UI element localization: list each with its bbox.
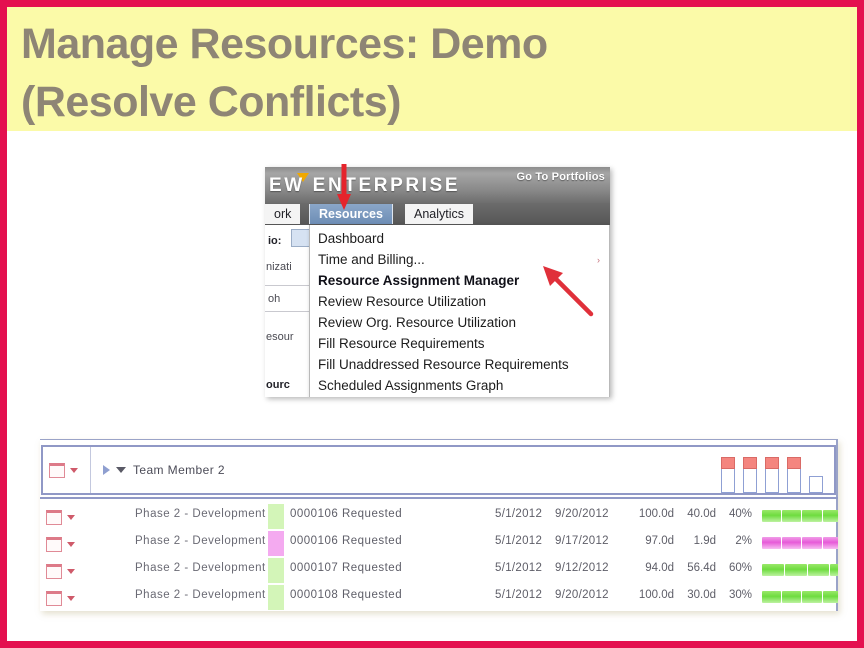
document-icon (46, 591, 62, 606)
mini-bar-overallocation-cap (743, 457, 757, 469)
utilization-mini-bar-chart (721, 451, 823, 493)
row-color-swatch (268, 585, 284, 610)
menu-item-label: Fill Resource Requirements (318, 336, 485, 351)
cell-percent: 60% (720, 562, 752, 574)
background-text-fragment: esour (266, 331, 294, 343)
group-bottom-rule (40, 497, 838, 499)
allocation-bar-segment (823, 537, 838, 549)
chevron-down-icon[interactable] (70, 468, 78, 473)
cell-task-phase: Phase 2 - Development (135, 508, 266, 520)
menu-item-dashboard[interactable]: Dashboard (310, 228, 609, 249)
chevron-down-icon[interactable] (67, 515, 75, 520)
allocation-progress-bar (762, 564, 838, 576)
allocation-progress-bar (762, 591, 838, 603)
allocation-bar-segment (802, 510, 821, 522)
row-icon-cell (46, 537, 84, 552)
allocation-bar-segment (762, 537, 781, 549)
cell-request-status: 0000108 Requested (290, 589, 402, 601)
row-color-swatch (268, 558, 284, 583)
page-title: Manage Resources: Demo (Resolve Conflict… (21, 15, 857, 131)
group-member-name: Team Member 2 (133, 463, 225, 477)
document-icon (46, 564, 62, 579)
app-logo-text: EW ENTERPRISE (269, 175, 460, 197)
submenu-chevron-right-icon: › (597, 256, 600, 264)
chevron-down-icon[interactable] (67, 569, 75, 574)
go-to-portfolios-link[interactable]: Go To Portfolios (516, 171, 605, 183)
background-text-fragment: ourc (266, 379, 290, 391)
column-divider (90, 447, 91, 493)
group-label-cell (43, 447, 87, 493)
slide-canvas: Manage Resources: Demo (Resolve Conflict… (0, 0, 864, 648)
title-banner: Manage Resources: Demo (Resolve Conflict… (7, 7, 857, 131)
table-row[interactable]: Phase 2 - Development0000108 Requested5/… (40, 584, 838, 611)
background-text-fragment: nizati (266, 261, 292, 273)
row-icon-cell (46, 510, 84, 525)
cell-percent: 30% (720, 589, 752, 601)
tab-work[interactable]: ork (265, 204, 300, 224)
background-text-fragment: io: (268, 235, 281, 247)
expand-triangle-icon[interactable] (103, 465, 110, 475)
document-icon (49, 463, 65, 478)
menu-item-fill-unaddressed-resource-requirements[interactable]: Fill Unaddressed Resource Requirements (310, 354, 609, 375)
table-row[interactable]: Phase 2 - Development0000106 Requested5/… (40, 503, 838, 530)
app-header-bar: EW ENTERPRISE Go To Portfolios (265, 167, 610, 203)
chevron-down-icon[interactable] (67, 596, 75, 601)
cell-task-phase: Phase 2 - Development (135, 535, 266, 547)
allocation-bar-segment (762, 510, 781, 522)
menu-item-label: Time and Billing... (318, 252, 425, 267)
cell-start-date: 5/1/2012 (495, 535, 542, 547)
background-rule-1 (265, 285, 309, 286)
allocation-bar-segment (802, 537, 821, 549)
allocation-bar-segment (782, 537, 801, 549)
tab-strip: ork Resources Analytics (265, 203, 610, 225)
mini-bar (765, 457, 779, 493)
cell-total-days: 100.0d (630, 508, 674, 520)
annotation-arrow-down-icon (337, 164, 351, 210)
cell-end-date: 9/20/2012 (555, 589, 609, 601)
cell-request-status: 0000106 Requested (290, 508, 402, 520)
cell-start-date: 5/1/2012 (495, 508, 542, 520)
mini-bar (809, 476, 823, 493)
mini-bar-overallocation-cap (721, 457, 735, 469)
allocation-bar-segment (782, 591, 801, 603)
document-icon (46, 537, 62, 552)
menu-item-label: Review Resource Utilization (318, 294, 486, 309)
row-icon-cell (46, 564, 84, 579)
table-row[interactable]: Phase 2 - Development0000107 Requested5/… (40, 557, 838, 584)
allocation-bar-segment (785, 564, 807, 576)
background-text-fragment: oh (268, 293, 280, 305)
mini-bar (743, 457, 757, 493)
mini-bar (721, 457, 735, 493)
cell-start-date: 5/1/2012 (495, 589, 542, 601)
cell-task-phase: Phase 2 - Development (135, 589, 266, 601)
allocation-bar-segment (762, 591, 781, 603)
menu-item-label: Resource Assignment Manager (318, 273, 519, 288)
annotation-arrow-diagonal-icon (539, 262, 597, 320)
menu-item-fill-resource-requirements[interactable]: Fill Resource Requirements (310, 333, 609, 354)
group-header-row[interactable]: Team Member 2 (41, 445, 836, 495)
menu-item-label: Scheduled Assignments Graph (318, 378, 503, 393)
cell-total-days: 97.0d (630, 535, 674, 547)
cell-total-days: 94.0d (630, 562, 674, 574)
group-name-cell: Team Member 2 (95, 447, 225, 493)
cell-end-date: 9/20/2012 (555, 508, 609, 520)
chevron-down-icon[interactable] (67, 542, 75, 547)
mini-bar-overallocation-cap (765, 457, 779, 469)
cell-task-phase: Phase 2 - Development (135, 562, 266, 574)
allocation-bar-segment (762, 564, 784, 576)
menu-item-label: Review Org. Resource Utilization (318, 315, 516, 330)
cell-end-date: 9/12/2012 (555, 562, 609, 574)
cell-end-date: 9/17/2012 (555, 535, 609, 547)
allocation-bar-segment (823, 510, 838, 522)
background-rule-2 (265, 311, 309, 312)
tab-analytics[interactable]: Analytics (405, 204, 473, 224)
menu-item-label: Fill Unaddressed Resource Requirements (318, 357, 569, 372)
table-top-rule (40, 439, 838, 440)
mini-bar-overallocation-cap (787, 457, 801, 469)
mini-bar (787, 457, 801, 493)
allocation-bar-segment (823, 591, 838, 603)
cell-request-status: 0000106 Requested (290, 535, 402, 547)
menu-item-scheduled-assignments-graph[interactable]: Scheduled Assignments Graph (310, 375, 609, 396)
menu-item-label: Dashboard (318, 231, 384, 246)
allocation-progress-bar (762, 537, 838, 549)
collapse-triangle-icon[interactable] (116, 467, 126, 473)
allocation-bar-segment (782, 510, 801, 522)
row-color-swatch (268, 531, 284, 556)
cell-used-days: 40.0d (678, 508, 716, 520)
cell-percent: 2% (720, 535, 752, 547)
table-row[interactable]: Phase 2 - Development0000106 Requested5/… (40, 530, 838, 557)
cell-total-days: 100.0d (630, 589, 674, 601)
allocation-bar-segment (808, 564, 830, 576)
row-color-swatch (268, 504, 284, 529)
allocation-bar-segment (802, 591, 821, 603)
cell-used-days: 30.0d (678, 589, 716, 601)
cell-used-days: 56.4d (678, 562, 716, 574)
document-icon (46, 510, 62, 525)
allocation-progress-bar (762, 510, 838, 522)
resource-table-screenshot-image: Team Member 2 Phase 2 - Development00001… (40, 439, 838, 611)
cell-request-status: 0000107 Requested (290, 562, 402, 574)
cell-start-date: 5/1/2012 (495, 562, 542, 574)
row-icon-cell (46, 591, 84, 606)
allocation-bar-segment (830, 564, 838, 576)
cell-percent: 40% (720, 508, 752, 520)
cell-used-days: 1.9d (678, 535, 716, 547)
